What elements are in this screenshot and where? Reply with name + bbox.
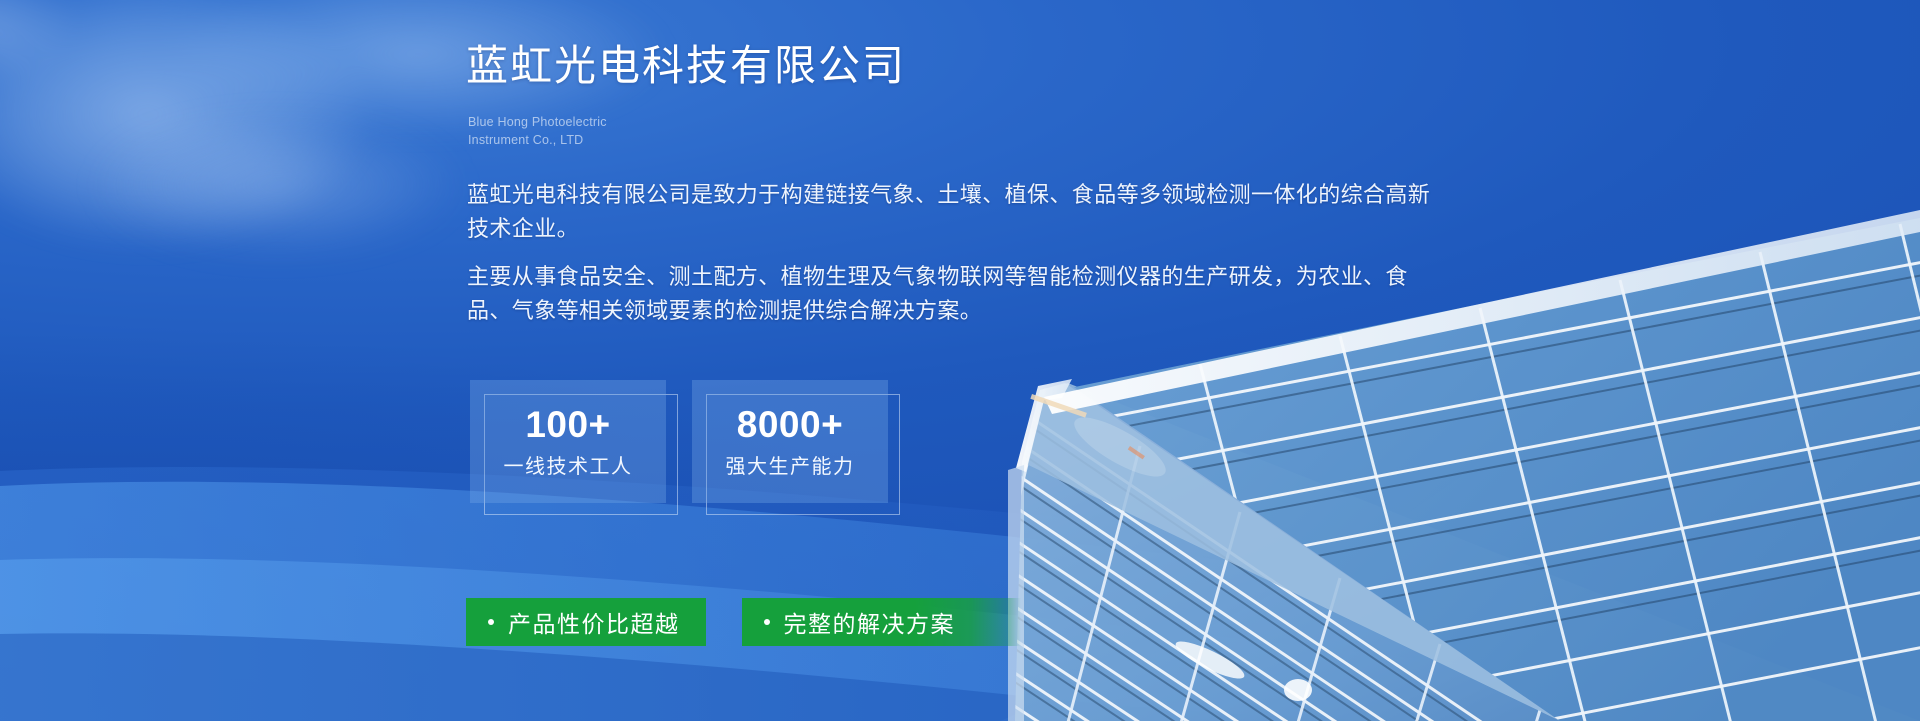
feature-tags-group: 产品性价比超越 完整的解决方案: [466, 598, 1021, 646]
feature-tag-solution[interactable]: 完整的解决方案: [742, 598, 1022, 646]
stat-label: 一线技术工人: [504, 457, 633, 477]
bullet-dot-icon: [488, 619, 494, 625]
stat-card: 100+ 一线技术工人: [470, 380, 666, 503]
stat-card: 8000+ 强大生产能力: [692, 380, 888, 503]
company-subtitle-line2: Instrument Co., LTD: [468, 131, 607, 149]
stat-panel: 100+ 一线技术工人: [470, 380, 666, 503]
feature-tag-label: 完整的解决方案: [784, 605, 956, 639]
hero-content: 蓝虹光电科技有限公司 Blue Hong Photoelectric Instr…: [466, 0, 1566, 721]
company-title: 蓝虹光电科技有限公司: [466, 41, 906, 91]
feature-tag-label: 产品性价比超越: [508, 605, 680, 639]
intro-paragraph-2: 主要从事食品安全、测土配方、植物生理及气象物联网等智能检测仪器的生产研发，为农业…: [467, 260, 1447, 329]
tag-spacer: [706, 598, 742, 646]
hero-banner: 蓝虹光电科技有限公司 Blue Hong Photoelectric Instr…: [0, 0, 1920, 721]
intro-paragraph-1: 蓝虹光电科技有限公司是致力于构建链接气象、土壤、植保、食品等多领域检测一体化的综…: [467, 178, 1447, 247]
stat-value: 100+: [525, 406, 610, 443]
bullet-dot-icon: [764, 619, 770, 625]
feature-tag-price[interactable]: 产品性价比超越: [466, 598, 706, 646]
company-subtitle-en: Blue Hong Photoelectric Instrument Co., …: [468, 113, 607, 149]
stat-label: 强大生产能力: [726, 457, 855, 477]
stat-panel: 8000+ 强大生产能力: [692, 380, 888, 503]
stats-group: 100+ 一线技术工人 8000+ 强大生产能力: [470, 380, 888, 503]
stat-value: 8000+: [737, 406, 843, 443]
company-subtitle-line1: Blue Hong Photoelectric: [468, 113, 607, 131]
